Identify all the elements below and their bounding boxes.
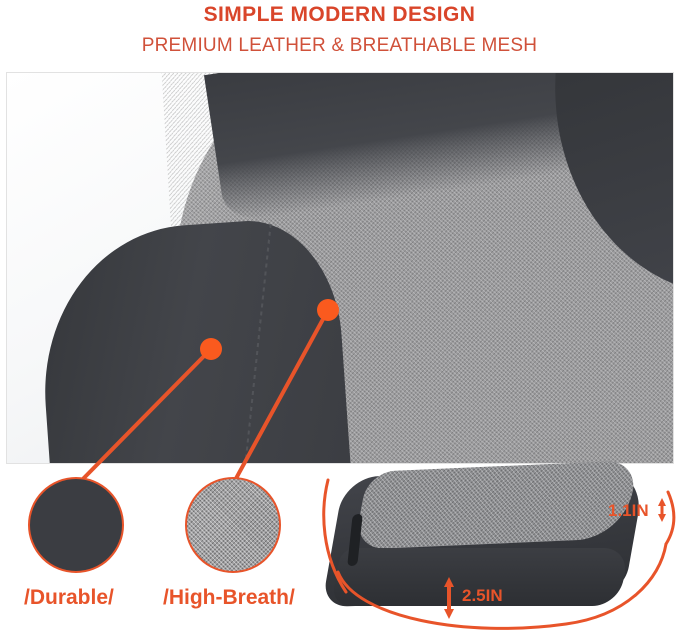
page-title: SIMPLE MODERN DESIGN: [0, 3, 679, 27]
contour-swoosh: [316, 452, 679, 638]
hero-photo-panel: [6, 72, 674, 464]
header: SIMPLE MODERN DESIGN PREMIUM LEATHER & B…: [0, 0, 679, 72]
swoosh-left: [324, 480, 346, 592]
arrow-1-1in: [655, 497, 669, 523]
mesh-swatch-texture: [187, 479, 279, 571]
durable-label: /Durable/: [24, 586, 114, 610]
product-shot: [316, 452, 679, 638]
dimension-1-1in: 1.1IN: [608, 501, 649, 521]
high-breath-label: /High-Breath/: [163, 586, 295, 610]
high-breath-swatch[interactable]: [185, 477, 281, 573]
dimension-2-5in: 2.5IN: [462, 586, 503, 606]
page-subtitle: PREMIUM LEATHER & BREATHABLE MESH: [0, 35, 679, 57]
durable-swatch[interactable]: [28, 477, 124, 573]
arrow-2-5in: [441, 576, 457, 620]
